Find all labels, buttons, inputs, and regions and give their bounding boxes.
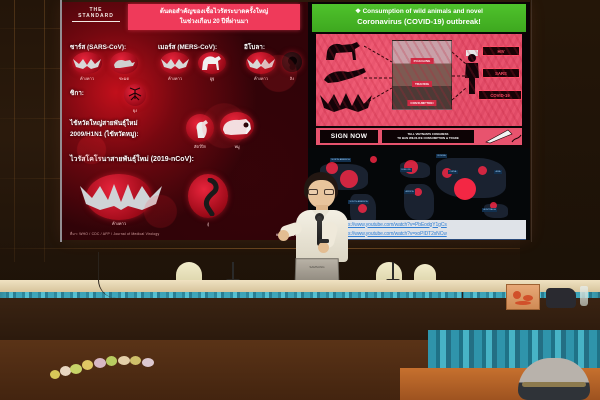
section-heading-mers: เมอร์ส (MERS-CoV):: [158, 42, 217, 52]
source-credit: ที่มา: WHO / CDC / AFP / Journal of Medi…: [70, 232, 159, 237]
map-label-europe: EUROPE: [400, 168, 412, 172]
dark-bag: [546, 288, 576, 308]
label-sars-animal-2: ชะมด: [110, 75, 138, 82]
slide-title-line-1: ต้นตอสำคัญของเชื้อไวรัสระบาดครั้งใหญ่: [132, 7, 296, 17]
section-heading-ebola: อีโบลา:: [244, 42, 265, 52]
bat-icon: [161, 55, 189, 71]
section-heading-ncov: ไวรัสโคโรนาสายพันธุ์ใหม่ (2019-nCoV):: [70, 154, 194, 165]
label-h1n1-animal-1: สัตว์ปีก: [186, 143, 214, 150]
label-ncov-animal-1: ค้างคาว: [92, 220, 146, 227]
wristwatch-icon: [319, 239, 329, 243]
label-h1n1-animal-2: หมู: [224, 143, 250, 150]
presentation-scene: THE STANDARD ต้นตอสำคัญของเชื้อไวรัสระบา…: [0, 0, 600, 400]
green-header-line-1: ❖ Consumption of wild animals and novel: [314, 7, 524, 16]
monkey-icon: [285, 55, 300, 70]
label-mers-animal-1: ค้างคาว: [160, 75, 190, 82]
slide-left-panel: THE STANDARD ต้นตอสำคัญของเชื้อไวรัสระบา…: [62, 2, 308, 240]
label-ebola-animal-1: ค้างคาว: [246, 75, 276, 82]
petition-line-2: TO BAN WILDLIFE CONSUMPTION & TRADE: [383, 136, 473, 140]
label-mers-animal-2: อูฐ: [198, 75, 226, 82]
snake-icon: [196, 178, 222, 216]
audience-hat-band: [522, 382, 586, 387]
green-header-line-2: Coronavirus (COVID-19) outbreak!: [314, 16, 524, 27]
green-header-banner: ❖ Consumption of wild animals and novel …: [312, 4, 526, 32]
bat-icon: [320, 90, 372, 114]
bat-icon: [80, 178, 162, 214]
bat-icon: [73, 55, 101, 71]
label-ebola-animal-2: ลิง: [282, 75, 302, 82]
map-label-africa: AFRICA: [404, 190, 415, 194]
signature-pen-icon: [478, 129, 522, 144]
wall-panel-seam: [44, 0, 45, 262]
section-heading-h1n1-line1: ไข้หวัดใหญ่สายพันธุ์ใหม่: [70, 118, 138, 128]
bat-icon: [247, 55, 275, 71]
speaker-right-hand: [318, 242, 329, 253]
pig-icon: [221, 116, 253, 137]
slide-title-banner: ต้นตอสำคัญของเชื้อไวรัสระบาดครั้งใหญ่ ใน…: [128, 4, 300, 30]
sign-now-button[interactable]: SIGN NOW: [320, 130, 378, 143]
photo-caption-consumption: CONSUMPTION: [407, 100, 436, 106]
photo-caption-trading: TRADING: [412, 81, 432, 87]
speaker-left-hand: [278, 230, 289, 241]
map-label-asia: ASIA: [494, 170, 502, 174]
disease-tag-hiv: HIV: [482, 46, 520, 56]
section-heading-zika: ซิกา:: [70, 88, 84, 98]
map-label-russia: RUSSIA: [436, 154, 447, 158]
section-heading-h1n1-line2: 2009/H1N1 (ไข้หวัดหมู):: [70, 129, 138, 139]
petition-message: TELL VIETNAM'S CONGRESS TO BAN WILDLIFE …: [382, 130, 474, 143]
civet-icon: [112, 57, 136, 70]
map-label-north-america: NORTH AMERICA: [330, 158, 351, 162]
logo-line-2: STANDARD: [72, 13, 120, 21]
pangolin-icon: [322, 66, 368, 84]
label-zika-animal-1: ยุง: [124, 107, 146, 114]
laptop-brand-label: SAMSUNG: [309, 265, 324, 269]
wildlife-photo-stack: POACHING TRADING CONSUMPTION: [392, 40, 452, 110]
section-heading-sars: ซาร์ส (SARS-CoV):: [70, 42, 126, 52]
map-label-china: CHINA: [448, 170, 458, 174]
wildlife-consumption-diagram: POACHING TRADING CONSUMPTION: [316, 34, 522, 126]
map-label-australia: AUSTRALIA: [482, 208, 497, 212]
human-figure-icon: [464, 50, 480, 94]
mosquito-icon: [127, 87, 143, 102]
water-bottle: [580, 286, 588, 306]
monkey-icon: [322, 40, 364, 62]
wall-panel-seam: [14, 0, 15, 262]
chair-left: [176, 262, 202, 282]
label-ncov-animal-2: งู: [188, 220, 228, 227]
eyeglasses-icon: [308, 189, 335, 195]
wall-right-section: [520, 0, 600, 300]
the-standard-logo: THE STANDARD: [72, 7, 120, 22]
disease-tag-sars: SARS: [482, 68, 520, 78]
photo-caption-poaching: POACHING: [411, 58, 434, 64]
orange-shopping-bag: [506, 284, 540, 310]
petition-bar: SIGN NOW TELL VIETNAM'S CONGRESS TO BAN …: [316, 128, 522, 145]
label-sars-animal-1: ค้างคาว: [72, 75, 102, 82]
slide-title-line-2: ในช่วงเกือบ 20 ปีที่ผ่านมา: [132, 17, 296, 27]
poultry-icon: [190, 118, 212, 139]
flower-arrangement: [48, 356, 166, 382]
arrow-icon: [452, 44, 468, 106]
arrow-icon: [364, 40, 394, 112]
disease-tag-covid19: COVID-19: [478, 90, 522, 100]
logo-line-1: THE: [90, 7, 103, 13]
camel-icon: [198, 52, 226, 74]
